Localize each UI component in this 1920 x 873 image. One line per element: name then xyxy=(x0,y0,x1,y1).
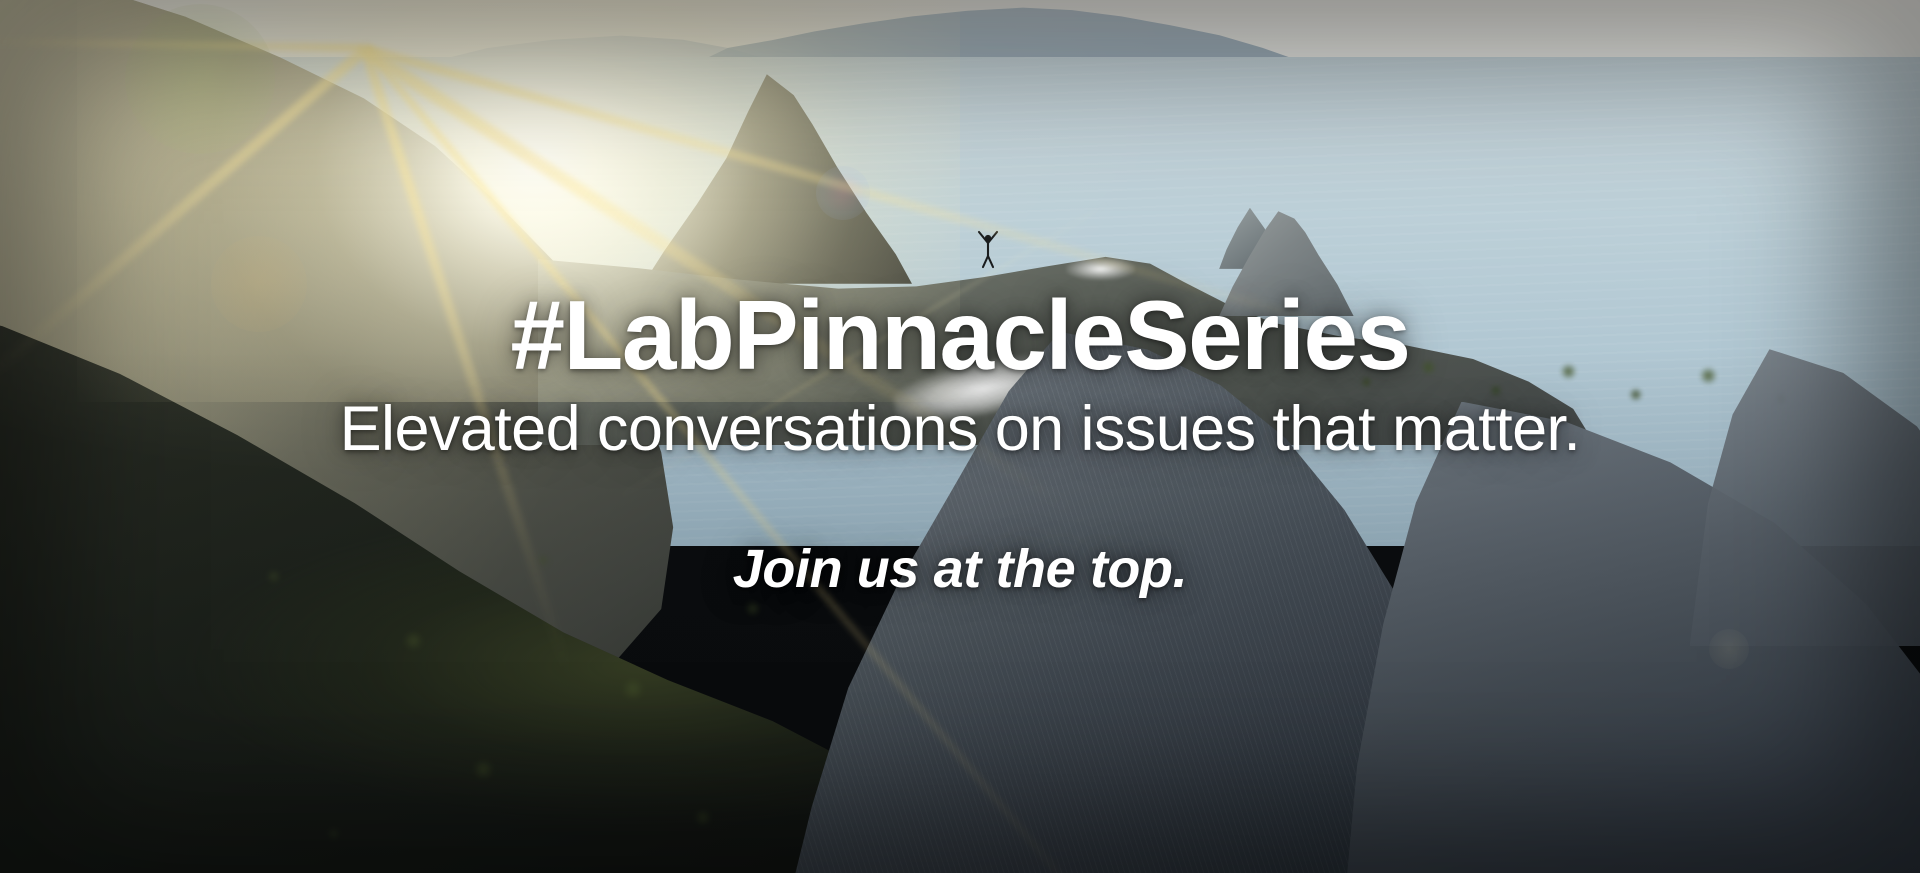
climber-figure xyxy=(973,229,1003,269)
background-photo xyxy=(0,0,1920,873)
hero-banner: #LabPinnacleSeries Elevated conversation… xyxy=(0,0,1920,873)
surf-highlight xyxy=(1066,258,1135,281)
